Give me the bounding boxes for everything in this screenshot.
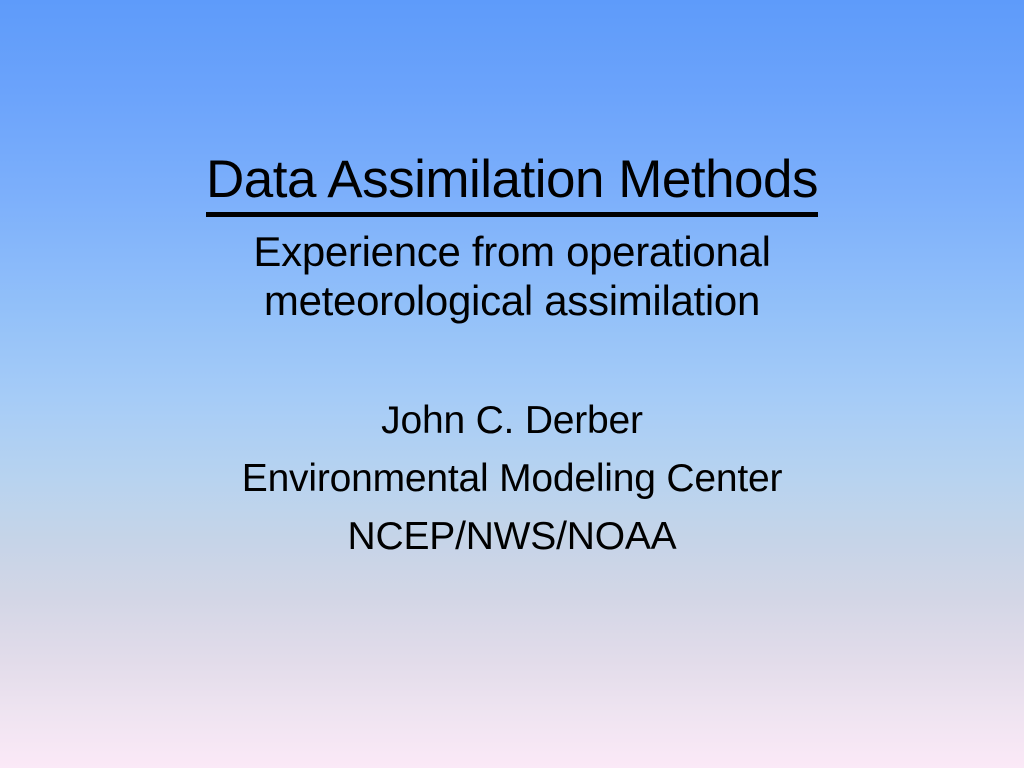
author-name: John C. Derber [0, 392, 1024, 450]
author-agency: NCEP/NWS/NOAA [0, 508, 1024, 566]
author-organization: Environmental Modeling Center [0, 450, 1024, 508]
body-block: John C. Derber Environmental Modeling Ce… [0, 392, 1024, 566]
subtitle-line-2: meteorological assimilation [0, 276, 1024, 325]
subtitle-block: Experience from operational meteorologic… [0, 227, 1024, 325]
subtitle-line-1: Experience from operational [0, 227, 1024, 276]
slide-canvas: Data Assimilation Methods Experience fro… [0, 0, 1024, 768]
footer: NATIONAL WEATHER SE RVICE June 20, 2005 [0, 663, 1024, 768]
page-title: Data Assimilation Methods [206, 150, 818, 217]
title-block: Data Assimilation Methods Experience fro… [0, 150, 1024, 325]
